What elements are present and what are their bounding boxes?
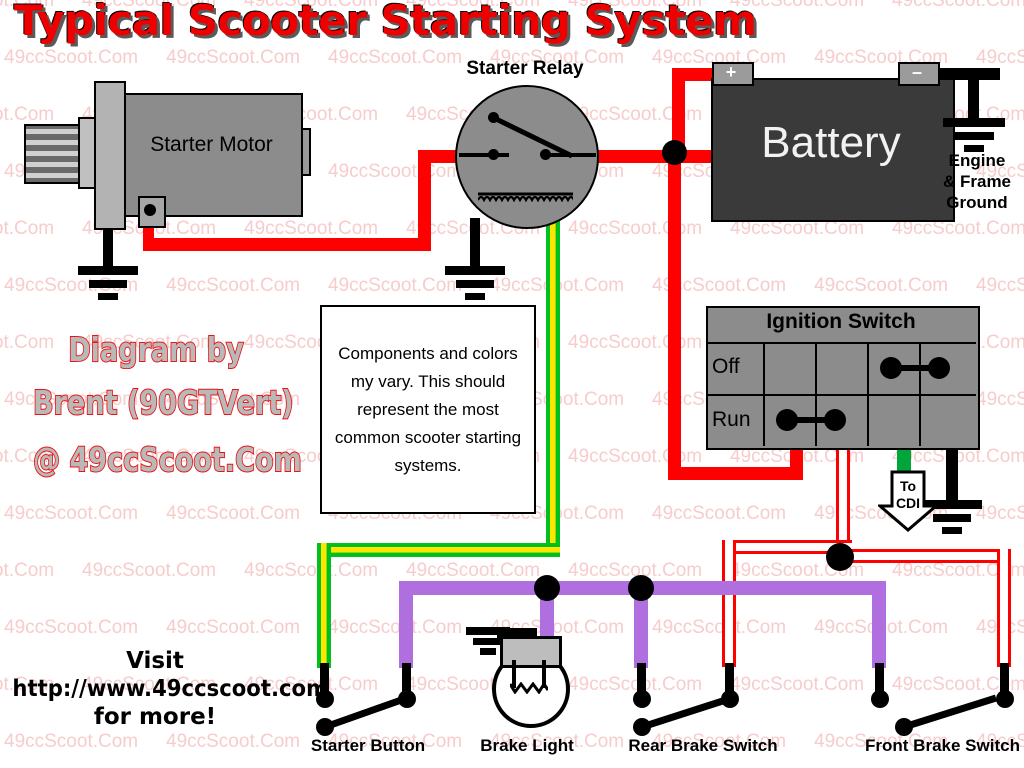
cdi-line1: To	[878, 478, 938, 495]
battery-positive-sign: +	[712, 63, 750, 81]
junction-dot-battery-positive	[662, 140, 687, 165]
watermark-text: 49ccScoot.Com	[568, 332, 702, 354]
wire-red-relay-to-battery-horizontal	[592, 150, 724, 163]
credit-block: Diagram by Brent (90GTVert) @ 49ccScoot.…	[6, 330, 306, 479]
brake-light-label: Brake Light	[462, 736, 592, 756]
watermark-text: 49ccScoot.Com	[4, 503, 138, 525]
starter-button-lever-icon[interactable]	[316, 688, 416, 736]
visit-line-1: Visit	[0, 648, 310, 674]
rear-brake-switch-label: Rear Brake Switch	[608, 736, 798, 756]
wire-purple-starter-button-drop	[399, 581, 413, 668]
wire-black-ignition-ground	[946, 444, 958, 502]
relay-switch-lever-icon	[492, 115, 574, 159]
relay-coil-icon	[478, 192, 573, 202]
watermark-text: 49ccScoot.Com	[568, 218, 702, 240]
ignition-row-label-run: Run	[712, 408, 751, 432]
diagram-title-bar: Typical Scooter Starting System	[0, 0, 1024, 46]
ignition-col-divider-3	[867, 342, 869, 446]
starter-motor-label: Starter Motor	[124, 133, 299, 157]
watermark-text: 49ccScoot.Com	[4, 731, 138, 753]
watermark-text: 49ccScoot.Com	[0, 104, 54, 126]
watermark-text: 49ccScoot.Com	[244, 560, 378, 582]
watermark-text: 49ccScoot.Com	[166, 503, 300, 525]
watermark-text: 49ccScoot.Com	[976, 389, 1024, 411]
starter-button-label: Starter Button	[288, 736, 448, 756]
watermark-text: 49ccScoot.Com	[166, 47, 300, 69]
watermark-text: 49ccScoot.Com	[328, 161, 462, 183]
junction-dot-redwhite-bus	[826, 543, 854, 571]
ignition-header-divider	[706, 342, 976, 344]
watermark-text: 49ccScoot.Com	[328, 617, 462, 639]
wire-green-yellow-horizontal	[317, 543, 560, 557]
wire-green-yellow-to-starter-button	[317, 543, 331, 668]
ignition-bridge-off	[880, 357, 950, 379]
watermark-text: 49ccScoot.Com	[328, 47, 462, 69]
wire-black-battery-neg-drop	[968, 68, 979, 120]
visit-block: Visit http://www.49ccscoot.com for more!	[0, 648, 310, 730]
watermark-text: 49ccScoot.Com	[166, 275, 300, 297]
wire-red-relay-left-riser	[418, 150, 431, 251]
watermark-text: 49ccScoot.Com	[166, 731, 300, 753]
watermark-text: 49ccScoot.Com	[568, 446, 702, 468]
starter-motor-flange	[94, 81, 126, 230]
starter-motor-ground-icon	[78, 266, 138, 300]
rear-brake-switch-lever-icon[interactable]	[633, 688, 741, 736]
battery-label: Battery	[711, 118, 951, 168]
ignition-row-label-off: Off	[712, 355, 740, 379]
visit-line-3: for more!	[0, 704, 310, 730]
ignition-row-divider	[706, 394, 976, 396]
watermark-text: 49ccScoot.Com	[4, 47, 138, 69]
starter-relay-ground-icon	[445, 266, 505, 300]
credit-line-2: Brent (90GTVert)	[33, 383, 279, 422]
watermark-text: 49ccScoot.Com	[976, 275, 1024, 297]
brake-light-bulb-base	[500, 636, 562, 668]
wire-redwhite-ignition-drop	[836, 444, 850, 549]
wire-green-yellow-relay-down	[546, 208, 560, 543]
relay-terminal-dot-pivot	[488, 112, 499, 123]
watermark-text: 49ccScoot.Com	[730, 674, 864, 696]
wiring-diagram-canvas: 49ccScoot.Com49ccScoot.Com49ccScoot.Com4…	[0, 0, 1024, 768]
watermark-text: 49ccScoot.Com	[166, 617, 300, 639]
engine-ground-line3: Ground	[930, 192, 1024, 213]
watermark-text: 49ccScoot.Com	[406, 560, 540, 582]
brake-light-filament-coil-icon	[510, 682, 548, 694]
engine-frame-ground-icon	[943, 118, 1005, 152]
wire-red-motor-to-relay-horizontal	[143, 238, 431, 251]
ignition-col-divider-1	[763, 342, 765, 446]
wire-red-battery-to-ignition-riser	[668, 150, 681, 480]
front-brake-switch-label: Front Brake Switch	[845, 736, 1024, 756]
watermark-text: 49ccScoot.Com	[82, 560, 216, 582]
battery-negative-sign: –	[898, 63, 936, 81]
note-text: Components and colors my vary. This shou…	[322, 340, 534, 480]
wire-redwhite-front-brake-drop	[997, 549, 1011, 667]
watermark-text: 49ccScoot.Com	[244, 218, 378, 240]
wire-purple-front-brake-drop	[872, 581, 886, 668]
note-box: Components and colors my vary. This shou…	[320, 305, 536, 514]
cdi-label: To CDI	[878, 478, 938, 512]
front-brake-terminal-left	[871, 690, 889, 708]
engine-ground-line1: Engine	[930, 150, 1024, 171]
wire-redwhite-rear-brake-drop	[722, 540, 736, 667]
watermark-text: 49ccScoot.Com	[976, 503, 1024, 525]
junction-dot-rear-brake	[628, 575, 654, 601]
front-brake-switch-lever-icon[interactable]	[895, 688, 1005, 736]
wire-red-ignition-bottom-horizontal	[668, 467, 803, 480]
relay-ground-wire	[470, 218, 480, 268]
starter-motor-terminal-dot	[144, 204, 156, 216]
credit-line-1: Diagram by	[33, 330, 279, 369]
watermark-text: 49ccScoot.Com	[814, 275, 948, 297]
watermark-text: 49ccScoot.Com	[652, 503, 786, 525]
visit-url[interactable]: http://www.49ccscoot.com	[12, 676, 297, 702]
starter-relay-label: Starter Relay	[455, 58, 595, 80]
watermark-text: 49ccScoot.Com	[652, 617, 786, 639]
watermark-text: 49ccScoot.Com	[328, 275, 462, 297]
credit-line-3: @ 49ccScoot.Com	[33, 440, 279, 479]
watermark-text: 49ccScoot.Com	[0, 560, 54, 582]
relay-terminal-dot-left	[488, 149, 499, 160]
watermark-text: 49ccScoot.Com	[0, 218, 54, 240]
relay-terminal-dot-right	[540, 149, 551, 160]
wire-redwhite-bus-right	[836, 549, 1011, 563]
page-title: Typical Scooter Starting System	[14, 0, 1024, 45]
ignition-bridge-run	[776, 409, 846, 431]
engine-frame-ground-label: Engine & Frame Ground	[930, 150, 1024, 213]
engine-ground-line2: & Frame	[930, 171, 1024, 192]
ignition-switch-title: Ignition Switch	[706, 310, 976, 334]
watermark-text: 49ccScoot.Com	[976, 47, 1024, 69]
watermark-text: 49ccScoot.Com	[4, 617, 138, 639]
cdi-line2: CDI	[878, 495, 938, 512]
starter-motor-gear-icon	[24, 124, 86, 184]
junction-dot-brake-light	[534, 575, 560, 601]
